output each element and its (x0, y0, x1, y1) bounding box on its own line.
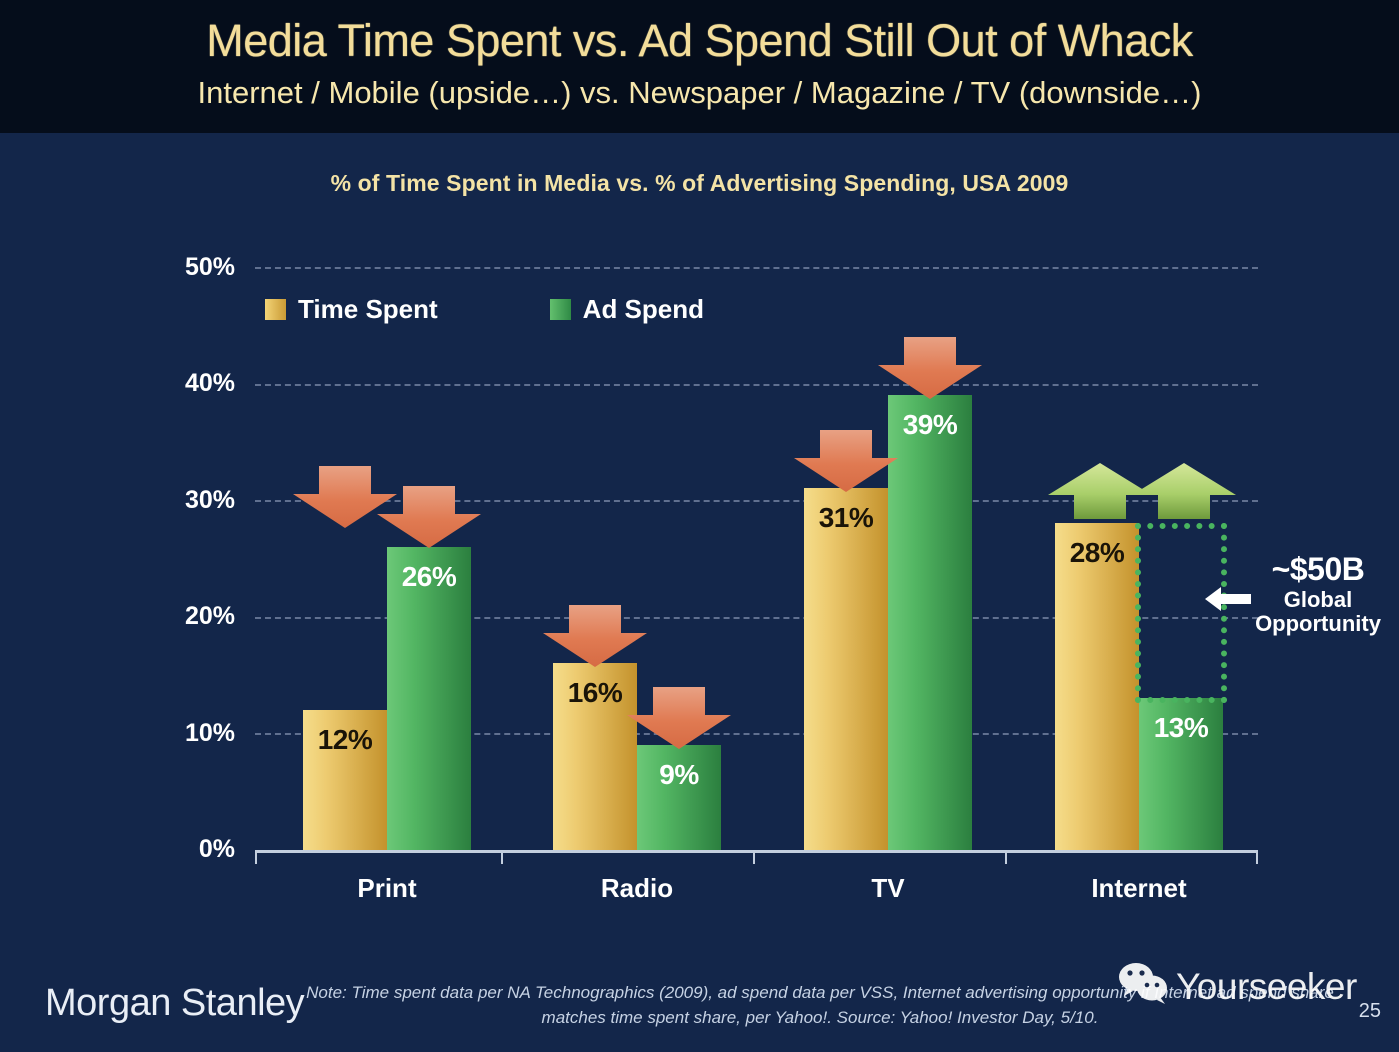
opportunity-annotation: ~$50B Global Opportunity (1238, 552, 1398, 637)
legend-swatch-icon (265, 299, 286, 320)
gridline-50 (255, 267, 1258, 269)
y-tick-0: 0% (145, 835, 235, 864)
bar-value-label: 9% (637, 759, 721, 791)
x-category-radio: Radio (557, 873, 717, 904)
bar-value-label: 13% (1139, 712, 1223, 744)
y-tick-40: 40% (145, 369, 235, 398)
x-category-tv: TV (808, 873, 968, 904)
down-arrow-icon (627, 687, 731, 749)
bar-value-label: 39% (888, 409, 972, 441)
morgan-stanley-logo: Morgan Stanley (45, 982, 304, 1025)
bar-value-label: 31% (804, 502, 888, 534)
watermark: Yourseeker (1118, 962, 1357, 1011)
legend-item-time-spent[interactable]: Time Spent (265, 294, 438, 325)
x-axis-tick (1005, 850, 1007, 864)
slide-canvas: Media Time Spent vs. Ad Spend Still Out … (0, 0, 1399, 1052)
page-title: Media Time Spent vs. Ad Spend Still Out … (0, 0, 1399, 63)
up-arrow-icon (1132, 463, 1236, 519)
opportunity-amount: ~$50B (1238, 552, 1398, 588)
plot-area: 12% 26% 16% 9% 31% 39% 28% 13% (255, 267, 1258, 850)
x-category-internet: Internet (1059, 873, 1219, 904)
wechat-icon (1118, 962, 1170, 1011)
bar-tv-time-spent: 31% (804, 488, 888, 850)
legend-label: Time Spent (298, 294, 438, 325)
chart-title: % of Time Spent in Media vs. % of Advert… (0, 170, 1399, 197)
bar-value-label: 26% (387, 561, 471, 593)
bar-internet-time-spent: 28% (1055, 523, 1139, 850)
bar-value-label: 16% (553, 677, 637, 709)
opportunity-callout-box (1135, 523, 1227, 703)
down-arrow-icon (794, 430, 898, 492)
x-axis-tick (753, 850, 755, 864)
x-category-print: Print (307, 873, 467, 904)
y-tick-50: 50% (145, 253, 235, 282)
legend-label: Ad Spend (583, 294, 704, 325)
x-axis-line (255, 850, 1258, 853)
x-axis-tick (1256, 850, 1258, 864)
page-number: 25 (1359, 1000, 1381, 1023)
bar-value-label: 28% (1055, 537, 1139, 569)
down-arrow-icon (377, 486, 481, 548)
down-arrow-icon (878, 337, 982, 399)
watermark-text: Yourseeker (1176, 966, 1357, 1008)
down-arrow-icon (543, 605, 647, 667)
y-tick-20: 20% (145, 602, 235, 631)
y-tick-30: 30% (145, 486, 235, 515)
bar-radio-time-spent: 16% (553, 663, 637, 850)
opportunity-line-2: Global (1238, 588, 1398, 613)
gridline-40 (255, 384, 1258, 386)
legend-swatch-icon (550, 299, 571, 320)
x-axis-tick (255, 850, 257, 864)
slide-header: Media Time Spent vs. Ad Spend Still Out … (0, 0, 1399, 133)
bar-tv-ad-spend: 39% (888, 395, 972, 850)
bar-internet-ad-spend: 13% (1139, 698, 1223, 850)
chart-legend: Time Spent Ad Spend (265, 294, 704, 325)
opportunity-line-3: Opportunity (1238, 612, 1398, 637)
bar-print-time-spent: 12% (303, 710, 387, 850)
page-subtitle: Internet / Mobile (upside…) vs. Newspape… (0, 63, 1399, 108)
bar-value-label: 12% (303, 724, 387, 756)
y-tick-10: 10% (145, 719, 235, 748)
bar-print-ad-spend: 26% (387, 547, 471, 850)
bar-radio-ad-spend: 9% (637, 745, 721, 850)
x-axis-tick (501, 850, 503, 864)
legend-item-ad-spend[interactable]: Ad Spend (550, 294, 704, 325)
